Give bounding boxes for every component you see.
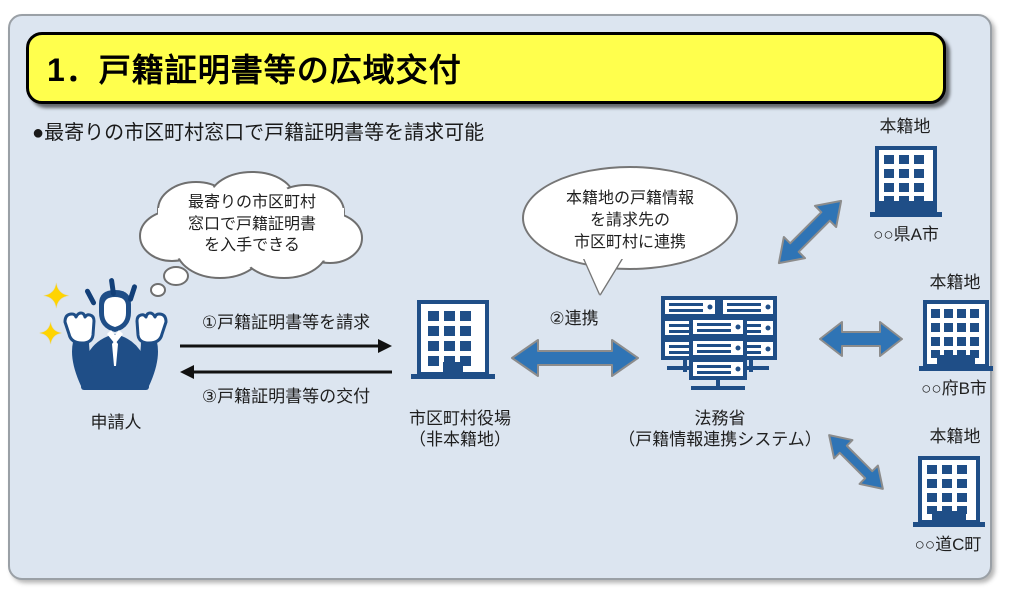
double-arrow-horizontal-icon <box>818 316 904 362</box>
step1-label: ①戸籍証明書等を請求 <box>178 312 394 333</box>
request-arrow-right <box>178 338 394 354</box>
office-building-icon <box>405 298 501 384</box>
step2-label: ②連携 <box>514 308 634 329</box>
ministry-label-line2: （戸籍情報連携システム） <box>610 429 830 450</box>
step3-label: ③戸籍証明書等の交付 <box>178 386 394 407</box>
double-arrow-horizontal-icon <box>510 334 640 382</box>
thought-cloud-text: 最寄りの市区町村 窓口で戸籍証明書 を入手できる <box>134 192 370 257</box>
city-office-label-line2: （非本籍地） <box>388 429 532 450</box>
subtitle-text: ●最寄りの市区町村窓口で戸籍証明書等を請求可能 <box>32 116 484 145</box>
content-panel: 1．戸籍証明書等の広域交付 ●最寄りの市区町村窓口で戸籍証明書等を請求可能 ✦ … <box>8 14 992 580</box>
ministry-label-line1: 法務省 <box>610 408 830 429</box>
office-building-icon <box>915 298 997 376</box>
balloon-tail-icon <box>584 258 622 294</box>
thought-line-1: 最寄りの市区町村 <box>134 192 370 214</box>
registry-b-building-icon <box>915 298 997 376</box>
link-arrow-to-registry-b <box>818 316 904 362</box>
thought-line-2: 窓口で戸籍証明書 <box>134 214 370 236</box>
arrow-left-icon <box>178 364 394 380</box>
city-office-label-line1: 市区町村役場 <box>388 408 532 429</box>
thought-cloud: 最寄りの市区町村 窓口で戸籍証明書 を入手できる <box>134 172 370 282</box>
speech-balloon: 本籍地の戸籍情報 を請求先の 市区町村に連携 <box>522 166 738 286</box>
registry-b-name: ○○府B市 <box>878 378 1024 399</box>
speech-line-1: 本籍地の戸籍情報 <box>522 188 738 210</box>
applicant-label: 申請人 <box>46 412 186 433</box>
office-building-icon <box>865 144 947 222</box>
ministry-label: 法務省 （戸籍情報連携システム） <box>610 408 830 451</box>
title-banner: 1．戸籍証明書等の広域交付 <box>26 32 946 104</box>
registry-a-heading: 本籍地 <box>840 116 970 137</box>
page-title: 1．戸籍証明書等の広域交付 <box>29 45 462 91</box>
registry-c-name: ○○道C町 <box>872 534 1024 555</box>
registry-a-name: ○○県A市 <box>830 224 982 245</box>
issue-arrow-left <box>178 364 394 380</box>
speech-balloon-text: 本籍地の戸籍情報 を請求先の 市区町村に連携 <box>522 188 738 254</box>
server-stack-icon <box>655 294 781 398</box>
registry-c-building-icon <box>908 454 990 532</box>
registry-c-heading: 本籍地 <box>890 426 1020 447</box>
speech-line-3: 市区町村に連携 <box>522 232 738 254</box>
ministry-server-icon <box>655 294 781 398</box>
cooperation-arrow-horizontal <box>510 334 640 382</box>
office-building-icon <box>908 454 990 532</box>
city-office-label: 市区町村役場 （非本籍地） <box>388 408 532 451</box>
speech-line-2: を請求先の <box>522 210 738 232</box>
registry-a-building-icon <box>865 144 947 222</box>
city-office-building-icon <box>405 298 501 384</box>
registry-b-heading: 本籍地 <box>890 272 1020 293</box>
arrow-right-icon <box>178 338 394 354</box>
sparkle-icon: ✦ <box>38 320 63 350</box>
sparkle-icon: ✦ <box>42 280 71 314</box>
diagram-screen: 1．戸籍証明書等の広域交付 ●最寄りの市区町村窓口で戸籍証明書等を請求可能 ✦ … <box>0 0 1024 608</box>
thought-line-3: を入手できる <box>134 235 370 257</box>
